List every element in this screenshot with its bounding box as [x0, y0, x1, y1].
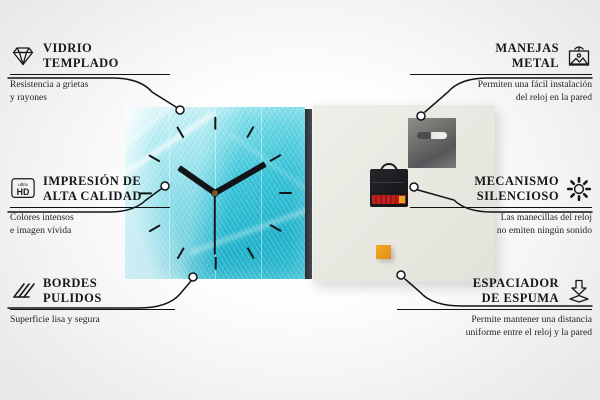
polished-edges-icon	[10, 278, 36, 304]
feature-polished-edges: BORDES PULIDOS Superficie lisa y segura	[10, 276, 175, 327]
feature-title-line1: IMPRESIÓN DE	[43, 174, 142, 189]
feature-divider	[10, 74, 170, 75]
feature-tempered-glass: VIDRIO TEMPLADO Resistencia a grietas y …	[10, 41, 170, 104]
mechanism-chip	[399, 196, 405, 203]
feature-desc-line1: Las manecillas del reloj	[410, 212, 592, 224]
feature-desc-line1: Permite mantener una distancia	[397, 314, 592, 326]
clock-tick	[214, 116, 216, 129]
feature-divider	[10, 309, 175, 310]
clock-mechanism	[370, 169, 408, 207]
gear-icon	[566, 176, 592, 202]
feature-title-line2: ALTA CALIDAD	[43, 189, 142, 204]
feature-title-line1: VIDRIO	[43, 41, 119, 56]
wall-hanger-plate	[408, 118, 456, 168]
glass-seam	[261, 107, 262, 279]
ultra-hd-icon: ultra HD	[10, 176, 36, 202]
feature-title-line1: ESPACIADOR	[473, 276, 559, 291]
feature-silent-mechanism: MECANISMO SILENCIOSO Las manecillas del …	[410, 174, 592, 237]
feature-desc-line2: uniforme entre el reloj y la pared	[397, 327, 592, 339]
feature-metal-hangers: MANEJAS METAL Permiten una fácil instala…	[410, 41, 592, 104]
hd-label: HD	[17, 187, 30, 197]
feature-divider	[410, 207, 592, 208]
feature-title-line2: DE ESPUMA	[473, 291, 559, 306]
feature-title-line1: BORDES	[43, 276, 102, 291]
clock-second-hand	[214, 193, 216, 255]
feature-desc-line1: Superficie lisa y segura	[10, 314, 175, 326]
feature-desc-line2: y rayones	[10, 92, 170, 104]
feature-desc-line1: Resistencia a grietas	[10, 79, 170, 91]
hanger-slot	[417, 132, 447, 139]
clock-side-edge	[305, 109, 312, 279]
feature-title-line2: PULIDOS	[43, 291, 102, 306]
feature-desc-line2: no emiten ningún sonido	[410, 225, 592, 237]
foam-spacer	[376, 245, 391, 259]
wall-hanger-icon	[566, 43, 592, 69]
feature-desc-line2: del reloj en la pared	[410, 92, 592, 104]
feature-divider	[397, 309, 592, 310]
feature-desc-line1: Colores intensos	[10, 212, 170, 224]
clock-pivot	[212, 190, 218, 196]
feature-title-line2: SILENCIOSO	[474, 189, 559, 204]
feature-title-line1: MECANISMO	[474, 174, 559, 189]
foam-spacer-icon	[566, 278, 592, 304]
feature-title-line2: METAL	[495, 56, 559, 71]
infographic-stage: VIDRIO TEMPLADO Resistencia a grietas y …	[0, 0, 600, 400]
clock-tick	[214, 256, 216, 269]
feature-divider	[10, 207, 170, 208]
mechanism-body	[370, 169, 408, 207]
mechanism-seam	[373, 182, 403, 183]
feature-foam-spacer: ESPACIADOR DE ESPUMA Permite mantener un…	[397, 276, 592, 339]
feature-desc-line2: e imagen vívida	[10, 225, 170, 237]
feature-title-line2: TEMPLADO	[43, 56, 119, 71]
feature-title-line1: MANEJAS	[495, 41, 559, 56]
feature-divider	[410, 74, 592, 75]
feature-desc-line1: Permiten una fácil instalación	[410, 79, 592, 91]
diamond-icon	[10, 43, 36, 69]
feature-hd-print: ultra HD IMPRESIÓN DE ALTA CALIDAD Color…	[10, 174, 170, 237]
